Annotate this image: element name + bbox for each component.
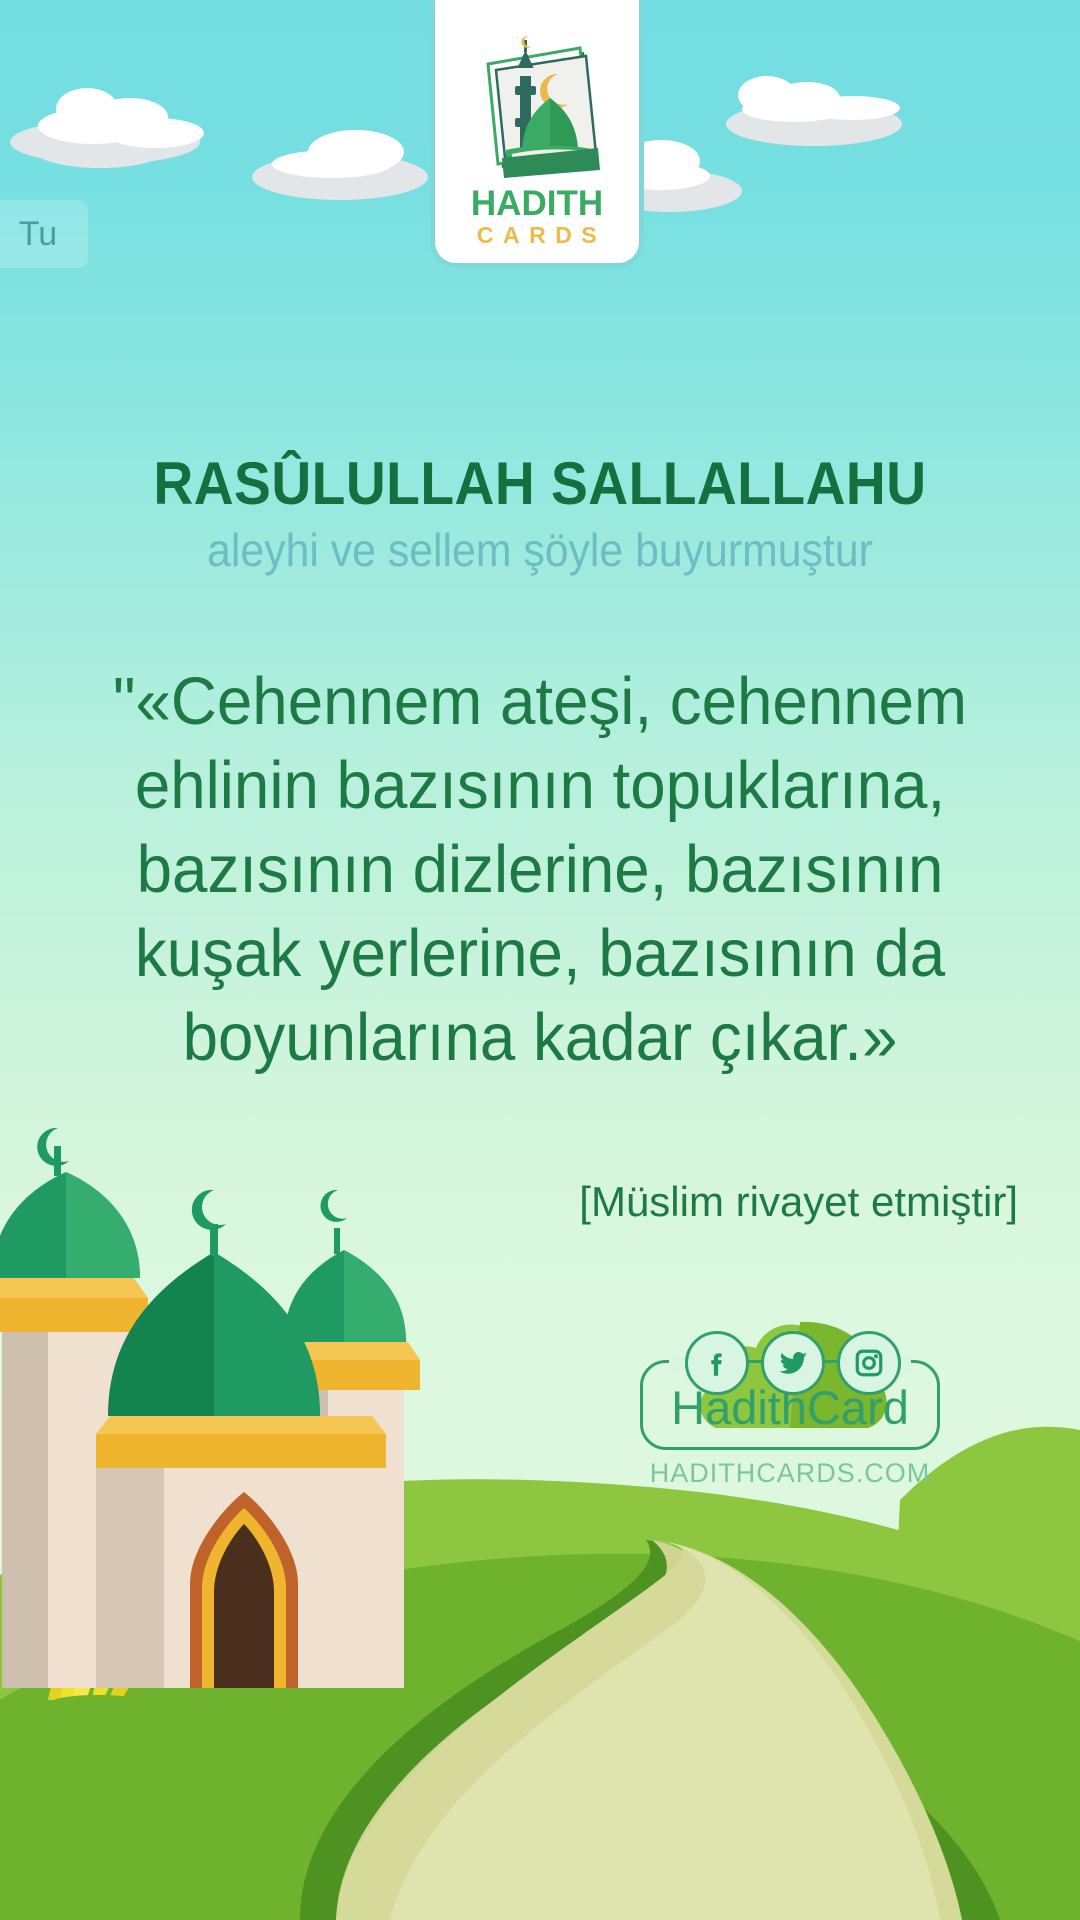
quote-line: "«Cehennem ateşi, cehennem: [84, 660, 996, 744]
brand-logo-card[interactable]: HADITH CARDS: [430, 0, 644, 268]
facebook-icon[interactable]: [685, 1331, 749, 1395]
logo-word-hadith: HADITH: [471, 186, 603, 221]
mosque-photo-stack-icon: [462, 30, 612, 182]
brand-badge[interactable]: HadithCard HADITHCARDS.COM: [640, 1360, 940, 1489]
quote-line: ehlinin bazısının topuklarına,: [84, 744, 996, 828]
quote-line: boyunlarına kadar çıkar.»: [84, 996, 996, 1080]
quote-line: bazısının dizlerine, bazısının: [84, 828, 996, 912]
logo-word-cards: CARDS: [468, 224, 606, 247]
language-chip[interactable]: Tu: [0, 200, 88, 268]
instagram-icon[interactable]: [837, 1331, 901, 1395]
page-subtitle: aleyhi ve sellem şöyle buyurmuştur: [38, 525, 1042, 576]
quote-line: kuşak yerlerine, bazısının da: [84, 912, 996, 996]
language-chip-label: Tu: [19, 215, 57, 254]
twitter-icon[interactable]: [761, 1331, 825, 1395]
hadith-quote: "«Cehennem ateşi, cehennem ehlinin bazıs…: [60, 660, 1020, 1080]
hadith-source: [Müslim rivayet etmiştir]: [0, 1178, 1080, 1226]
page-title: RASÛLULLAH SALLALLAHU: [43, 452, 1037, 515]
brand-url: HADITHCARDS.COM: [640, 1458, 940, 1489]
brand-pill[interactable]: HadithCard: [640, 1360, 940, 1450]
social-links-row[interactable]: [643, 1329, 943, 1397]
heading-block: RASÛLULLAH SALLALLAHU aleyhi ve sellem ş…: [0, 452, 1080, 576]
